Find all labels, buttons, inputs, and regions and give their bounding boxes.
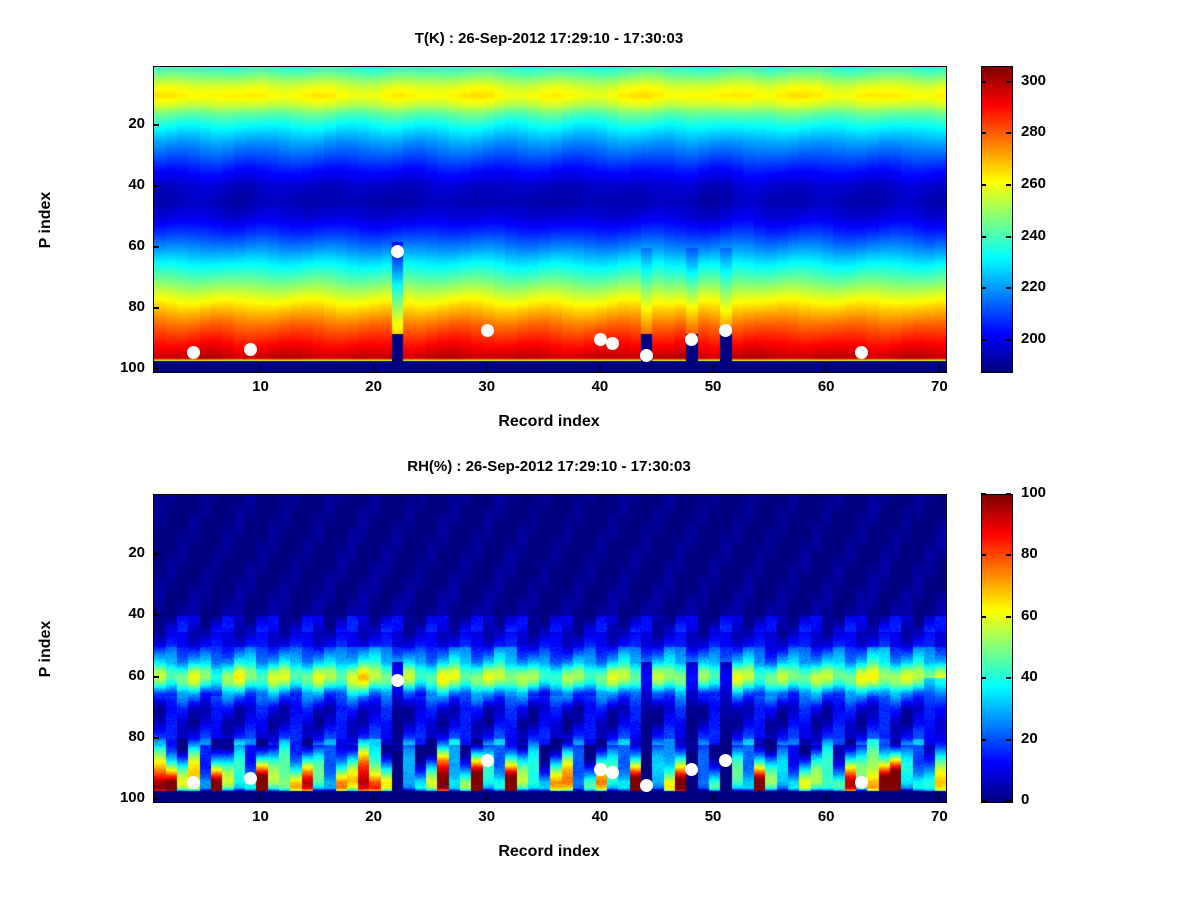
- x-tick-mark: [825, 795, 827, 801]
- x-tick-mark: [712, 795, 714, 801]
- y-tick-mark: [153, 676, 159, 678]
- colorbar-tick-label: 260: [1021, 175, 1046, 192]
- colorbar-tick-mark: [1006, 184, 1011, 186]
- x-tick-mark: [259, 365, 261, 371]
- colorbar-tick-mark: [1006, 236, 1011, 238]
- y-tick-label: 80: [95, 298, 145, 315]
- colorbar-tick-label: 240: [1021, 227, 1046, 244]
- colorbar-tick-label: 20: [1021, 730, 1038, 747]
- humidity-panel-title: RH(%) : 26-Sep-2012 17:29:10 - 17:30:03: [153, 458, 945, 475]
- humidity-yaxis-label: P index: [37, 589, 55, 709]
- x-tick-mark: [938, 365, 940, 371]
- y-tick-label: 100: [95, 359, 145, 376]
- y-tick-label: 100: [95, 789, 145, 806]
- temperature-colorbar[interactable]: [981, 66, 1013, 373]
- y-tick-mark: [153, 737, 159, 739]
- x-tick-label: 70: [917, 808, 961, 825]
- x-tick-label: 50: [691, 378, 735, 395]
- matlab-figure-window: T(K) : 26-Sep-2012 17:29:10 - 17:30:03 1…: [0, 0, 1200, 900]
- y-tick-label: 20: [95, 544, 145, 561]
- colorbar-tick-mark: [1006, 287, 1011, 289]
- x-tick-label: 10: [238, 378, 282, 395]
- colorbar-tick-mark: [1006, 616, 1011, 618]
- colorbar-tick-mark: [981, 677, 986, 679]
- colorbar-tick-mark: [1006, 800, 1011, 802]
- y-tick-label: 60: [95, 237, 145, 254]
- x-tick-label: 20: [352, 378, 396, 395]
- y-tick-label: 20: [95, 115, 145, 132]
- humidity-xaxis-label: Record index: [153, 843, 945, 861]
- x-tick-label: 60: [804, 808, 848, 825]
- x-tick-mark: [938, 795, 940, 801]
- colorbar-tick-label: 80: [1021, 545, 1038, 562]
- colorbar-tick-mark: [1006, 554, 1011, 556]
- y-tick-mark: [153, 246, 159, 248]
- x-tick-mark: [825, 365, 827, 371]
- y-tick-label: 80: [95, 728, 145, 745]
- colorbar-tick-mark: [981, 236, 986, 238]
- colorbar-tick-mark: [981, 81, 986, 83]
- humidity-heatmap-canvas: [154, 495, 946, 802]
- temperature-panel-title: T(K) : 26-Sep-2012 17:29:10 - 17:30:03: [153, 30, 945, 47]
- colorbar-tick-mark: [981, 554, 986, 556]
- x-tick-label: 40: [578, 808, 622, 825]
- x-tick-label: 70: [917, 378, 961, 395]
- y-tick-mark: [153, 124, 159, 126]
- colorbar-tick-label: 220: [1021, 278, 1046, 295]
- x-tick-label: 60: [804, 378, 848, 395]
- colorbar-tick-mark: [1006, 493, 1011, 495]
- colorbar-tick-mark: [1006, 739, 1011, 741]
- temperature-yaxis-label: P index: [37, 160, 55, 280]
- x-tick-label: 20: [352, 808, 396, 825]
- y-tick-label: 40: [95, 605, 145, 622]
- x-tick-label: 40: [578, 378, 622, 395]
- colorbar-tick-mark: [981, 493, 986, 495]
- humidity-colorbar[interactable]: [981, 494, 1013, 803]
- colorbar-tick-mark: [981, 339, 986, 341]
- colorbar-tick-mark: [1006, 677, 1011, 679]
- x-tick-mark: [373, 365, 375, 371]
- colorbar-tick-label: 0: [1021, 791, 1029, 808]
- x-tick-label: 30: [465, 808, 509, 825]
- y-tick-mark: [153, 614, 159, 616]
- x-tick-mark: [259, 795, 261, 801]
- colorbar-tick-label: 300: [1021, 72, 1046, 89]
- x-tick-mark: [712, 365, 714, 371]
- y-tick-label: 60: [95, 667, 145, 684]
- y-tick-mark: [153, 185, 159, 187]
- colorbar-tick-label: 100: [1021, 484, 1046, 501]
- y-tick-mark: [153, 368, 159, 370]
- x-tick-mark: [486, 795, 488, 801]
- humidity-colorbar-gradient: [982, 495, 1012, 802]
- y-tick-label: 40: [95, 176, 145, 193]
- colorbar-tick-label: 60: [1021, 607, 1038, 624]
- colorbar-tick-mark: [981, 184, 986, 186]
- colorbar-tick-label: 280: [1021, 123, 1046, 140]
- humidity-heatmap-axes[interactable]: [153, 494, 947, 803]
- x-tick-mark: [599, 795, 601, 801]
- colorbar-tick-mark: [1006, 81, 1011, 83]
- colorbar-tick-mark: [981, 287, 986, 289]
- temperature-heatmap-canvas: [154, 67, 946, 372]
- y-tick-mark: [153, 798, 159, 800]
- x-tick-mark: [599, 365, 601, 371]
- x-tick-label: 30: [465, 378, 509, 395]
- y-tick-mark: [153, 307, 159, 309]
- x-tick-label: 50: [691, 808, 735, 825]
- colorbar-tick-mark: [981, 616, 986, 618]
- colorbar-tick-mark: [1006, 339, 1011, 341]
- x-tick-label: 10: [238, 808, 282, 825]
- temperature-colorbar-gradient: [982, 67, 1012, 372]
- colorbar-tick-mark: [1006, 132, 1011, 134]
- colorbar-tick-mark: [981, 800, 986, 802]
- colorbar-tick-mark: [981, 739, 986, 741]
- x-tick-mark: [373, 795, 375, 801]
- colorbar-tick-mark: [981, 132, 986, 134]
- y-tick-mark: [153, 553, 159, 555]
- colorbar-tick-label: 40: [1021, 668, 1038, 685]
- x-tick-mark: [486, 365, 488, 371]
- temperature-heatmap-axes[interactable]: [153, 66, 947, 373]
- temperature-xaxis-label: Record index: [153, 413, 945, 431]
- colorbar-tick-label: 200: [1021, 330, 1046, 347]
